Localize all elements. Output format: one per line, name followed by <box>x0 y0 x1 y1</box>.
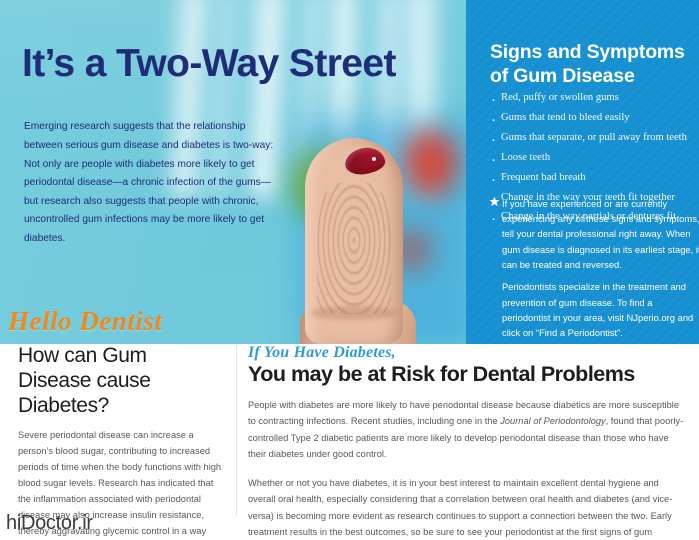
journal-name: Journal of Periodontology <box>500 416 605 426</box>
blurred-red-blob <box>404 130 458 196</box>
symptoms-sidebar: Signs and Symptoms of Gum Disease Red, p… <box>466 0 699 344</box>
sidebar-periodontist-note: Periodontists specialize in the treatmen… <box>502 279 698 340</box>
finger-crease <box>311 306 397 320</box>
right-column-paragraph-2: Whether or not you have diabetes, it is … <box>248 475 688 540</box>
fingerprint-texture <box>317 180 391 314</box>
hello-dentist-banner: Hello Dentist <box>8 306 162 337</box>
sidebar-warning-note: If you have experienced or are currently… <box>490 196 699 272</box>
right-column-kicker: If You Have Diabetes, <box>248 344 688 362</box>
list-item: Loose teeth <box>491 148 699 168</box>
list-item: Red, puffy or swollen gums <box>491 88 699 108</box>
right-column: If You Have Diabetes, You may be at Risk… <box>248 344 688 540</box>
bottom-content: How can Gum Disease cause Diabetes? Seve… <box>0 344 699 540</box>
hero-intro-paragraph: Emerging research suggests that the rela… <box>24 118 284 249</box>
hero-section: It’s a Two-Way Street Emerging research … <box>0 0 699 344</box>
left-column: How can Gum Disease cause Diabetes? Seve… <box>18 344 223 540</box>
list-item: Gums that separate, or pull away from te… <box>491 128 699 148</box>
star-icon <box>489 196 500 207</box>
list-item: Gums that tend to bleed easily <box>491 108 699 128</box>
right-column-paragraph-1: People with diabetes are more likely to … <box>248 397 688 463</box>
list-item: Frequent bad breath <box>491 168 699 188</box>
right-column-title: You may be at Risk for Dental Problems <box>248 363 688 387</box>
column-divider <box>236 346 237 516</box>
sidebar-warning-text: If you have experienced or are currently… <box>502 198 699 270</box>
blood-drop-highlight <box>372 157 376 161</box>
watermark: hiDoctor.ir <box>6 512 93 535</box>
infographic-page: It’s a Two-Way Street Emerging research … <box>0 0 699 540</box>
page-title: It’s a Two-Way Street <box>22 44 452 85</box>
sidebar-title: Signs and Symptoms of Gum Disease <box>490 41 690 89</box>
left-column-title: How can Gum Disease cause Diabetes? <box>18 344 223 418</box>
